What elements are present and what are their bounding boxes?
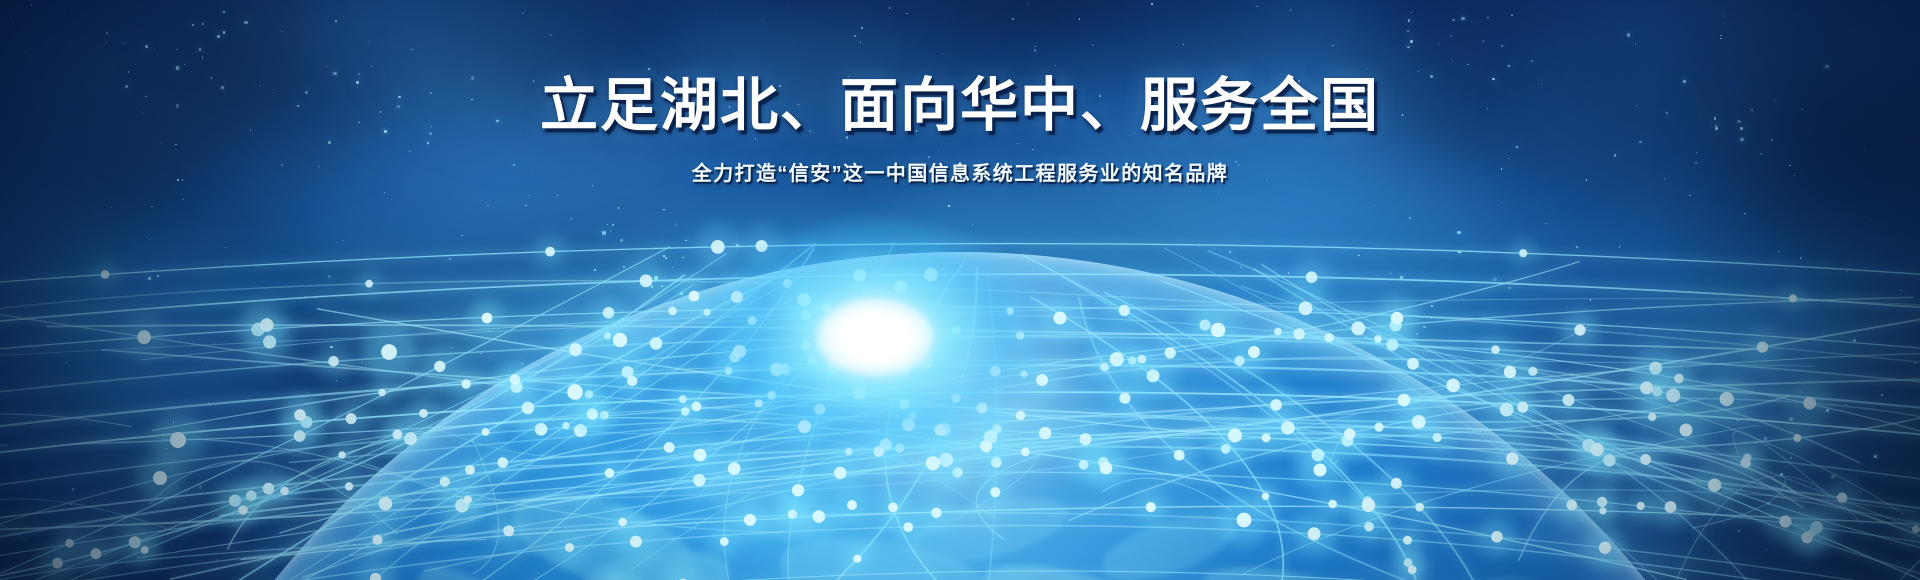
network-node bbox=[141, 546, 149, 554]
network-node bbox=[1779, 515, 1791, 527]
network-node bbox=[1374, 423, 1383, 432]
network-node bbox=[689, 291, 700, 302]
network-node bbox=[650, 337, 663, 350]
network-node bbox=[1119, 393, 1130, 404]
network-node bbox=[1398, 394, 1411, 407]
network-node bbox=[569, 343, 582, 356]
network-node bbox=[931, 508, 941, 518]
network-node bbox=[1016, 411, 1026, 421]
network-node bbox=[153, 471, 167, 485]
network-node bbox=[1415, 503, 1424, 512]
network-node bbox=[834, 467, 846, 479]
network-node bbox=[1306, 271, 1318, 283]
network-node bbox=[1328, 500, 1337, 509]
network-node bbox=[379, 497, 393, 511]
network-node bbox=[1506, 452, 1518, 464]
network-node bbox=[565, 543, 574, 552]
network-node bbox=[170, 432, 186, 448]
network-node bbox=[1720, 392, 1734, 406]
network-node bbox=[1374, 335, 1382, 343]
network-node bbox=[1021, 447, 1030, 456]
network-node bbox=[1680, 424, 1693, 437]
hero-banner: 立足湖北、面向华中、服务全国 全力打造“信安”这一中国信息系统工程服务业的知名品… bbox=[0, 0, 1920, 580]
network-node bbox=[1757, 342, 1768, 353]
network-node bbox=[1567, 500, 1578, 511]
network-node bbox=[1344, 428, 1355, 439]
network-node bbox=[372, 535, 382, 545]
network-node bbox=[1054, 312, 1067, 325]
network-node bbox=[888, 503, 898, 513]
network-node bbox=[728, 462, 741, 475]
network-node bbox=[1391, 312, 1403, 324]
network-node bbox=[1912, 525, 1920, 533]
network-node bbox=[1708, 479, 1721, 492]
network-node bbox=[744, 514, 756, 526]
network-node bbox=[720, 537, 729, 546]
network-node bbox=[378, 389, 386, 397]
network-node bbox=[1039, 427, 1051, 439]
network-node bbox=[1504, 366, 1516, 378]
network-node bbox=[338, 451, 345, 458]
network-node bbox=[1741, 458, 1751, 468]
network-node bbox=[1517, 402, 1528, 413]
network-node bbox=[545, 247, 555, 257]
network-node bbox=[482, 428, 490, 436]
network-node bbox=[294, 409, 306, 421]
network-node bbox=[613, 333, 627, 347]
network-node bbox=[65, 539, 74, 548]
network-node bbox=[813, 510, 826, 523]
network-node bbox=[1407, 358, 1419, 370]
network-node bbox=[392, 430, 402, 440]
network-node bbox=[1837, 493, 1847, 503]
network-node bbox=[503, 525, 514, 536]
network-node bbox=[853, 555, 861, 563]
network-node bbox=[1446, 379, 1460, 393]
network-node bbox=[692, 402, 702, 412]
network-arc bbox=[0, 414, 132, 500]
network-node bbox=[1146, 502, 1156, 512]
network-node bbox=[1519, 249, 1527, 257]
network-node bbox=[1174, 450, 1185, 461]
network-node bbox=[1491, 345, 1500, 354]
network-node bbox=[346, 413, 357, 424]
network-node bbox=[137, 330, 151, 344]
network-node bbox=[381, 344, 397, 360]
network-node bbox=[1391, 478, 1402, 489]
network-node bbox=[101, 270, 110, 279]
network-node bbox=[1270, 399, 1282, 411]
network-node bbox=[1599, 507, 1606, 514]
network-node bbox=[1362, 498, 1376, 512]
network-node bbox=[1308, 527, 1321, 540]
network-node bbox=[664, 442, 675, 453]
network-node bbox=[1793, 434, 1801, 442]
network-node bbox=[328, 356, 339, 367]
network-node bbox=[627, 376, 637, 386]
network-node bbox=[345, 482, 353, 490]
network-node bbox=[461, 379, 471, 389]
network-node-glow bbox=[664, 565, 703, 580]
network-node bbox=[1803, 397, 1816, 410]
network-node bbox=[1674, 374, 1684, 384]
network-node bbox=[1325, 333, 1334, 342]
network-node bbox=[510, 374, 520, 384]
network-node bbox=[1100, 462, 1113, 475]
network-node bbox=[1590, 443, 1603, 456]
network-node bbox=[1237, 513, 1252, 528]
network-node bbox=[1165, 347, 1176, 358]
network-node bbox=[1036, 374, 1048, 386]
network-node bbox=[464, 496, 472, 504]
network-node bbox=[1314, 464, 1327, 477]
network-node bbox=[91, 548, 102, 559]
network-node bbox=[1299, 302, 1313, 316]
network-node bbox=[52, 558, 63, 569]
network-node bbox=[434, 361, 445, 372]
network-node bbox=[1408, 565, 1417, 574]
network-node bbox=[1801, 532, 1812, 543]
network-arc bbox=[0, 513, 1920, 580]
network-node bbox=[365, 280, 373, 288]
network-node bbox=[1248, 346, 1260, 358]
network-node bbox=[640, 275, 653, 288]
network-node bbox=[694, 449, 707, 462]
network-node bbox=[668, 307, 677, 316]
network-node bbox=[1211, 323, 1226, 338]
network-node bbox=[1563, 394, 1575, 406]
network-node bbox=[482, 313, 493, 324]
network-node bbox=[1228, 428, 1242, 442]
network-node bbox=[980, 440, 992, 452]
network-node bbox=[847, 500, 857, 510]
network-node bbox=[630, 536, 642, 548]
network-node bbox=[1640, 381, 1653, 394]
network-node bbox=[903, 522, 913, 532]
network-node bbox=[1351, 321, 1365, 335]
network-node bbox=[619, 518, 627, 526]
network-node bbox=[440, 477, 450, 487]
network-node bbox=[567, 384, 583, 400]
network-node bbox=[1640, 454, 1651, 465]
network-node bbox=[1079, 433, 1091, 445]
network-node bbox=[605, 468, 615, 478]
network-node bbox=[1262, 493, 1270, 501]
network-node bbox=[465, 465, 475, 475]
network-node bbox=[1119, 305, 1130, 316]
network-node bbox=[497, 457, 508, 468]
network-node bbox=[1403, 536, 1412, 545]
network-node bbox=[792, 484, 804, 496]
network-node bbox=[1599, 542, 1611, 554]
network-node bbox=[1574, 324, 1585, 335]
network-node bbox=[238, 505, 248, 515]
network-node bbox=[280, 487, 289, 496]
network-node bbox=[926, 456, 940, 470]
network-node bbox=[260, 318, 274, 332]
network-node bbox=[419, 409, 428, 418]
network-node bbox=[711, 240, 725, 254]
network-node bbox=[1110, 352, 1124, 366]
network-node bbox=[1648, 413, 1656, 421]
network-node bbox=[1665, 501, 1677, 513]
network-node bbox=[1637, 502, 1645, 510]
network-node bbox=[1491, 531, 1503, 543]
network-node bbox=[990, 487, 1000, 497]
network-node bbox=[1789, 294, 1797, 302]
network-node bbox=[1262, 433, 1271, 442]
network-arc bbox=[0, 571, 1920, 580]
